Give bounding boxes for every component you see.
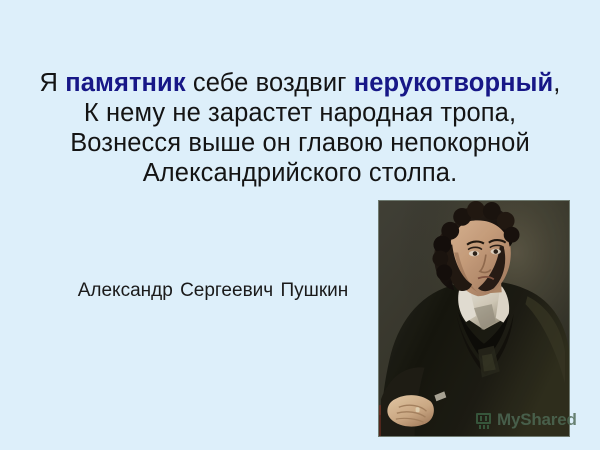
- author-attribution: Александр Сергеевич Пушкин: [70, 280, 356, 302]
- poem-text-block: Я памятник себе воздвиг нерукотворный, К…: [0, 68, 600, 188]
- slide-canvas: Я памятник себе воздвиг нерукотворный, К…: [0, 0, 600, 450]
- poem-line-2: К нему не зарастет народная тропа,: [0, 98, 600, 128]
- poem-line-3: Вознесся выше он главою непокорной: [0, 128, 600, 158]
- poem-highlight-pamyatnik: памятник: [65, 69, 185, 97]
- poem-line-1-segment-1: Я: [40, 69, 66, 97]
- poem-line-1-comma: ,: [553, 69, 560, 97]
- poem-line-1: Я памятник себе воздвиг нерукотворный,: [0, 68, 600, 98]
- poem-highlight-nerukotvornyy: нерукотворный: [354, 69, 554, 97]
- portrait-artwork: [379, 201, 569, 436]
- pushkin-portrait-image: [378, 200, 570, 437]
- poem-line-1-segment-2: себе воздвиг: [186, 69, 354, 97]
- poem-line-4: Александрийского столпа.: [0, 158, 600, 188]
